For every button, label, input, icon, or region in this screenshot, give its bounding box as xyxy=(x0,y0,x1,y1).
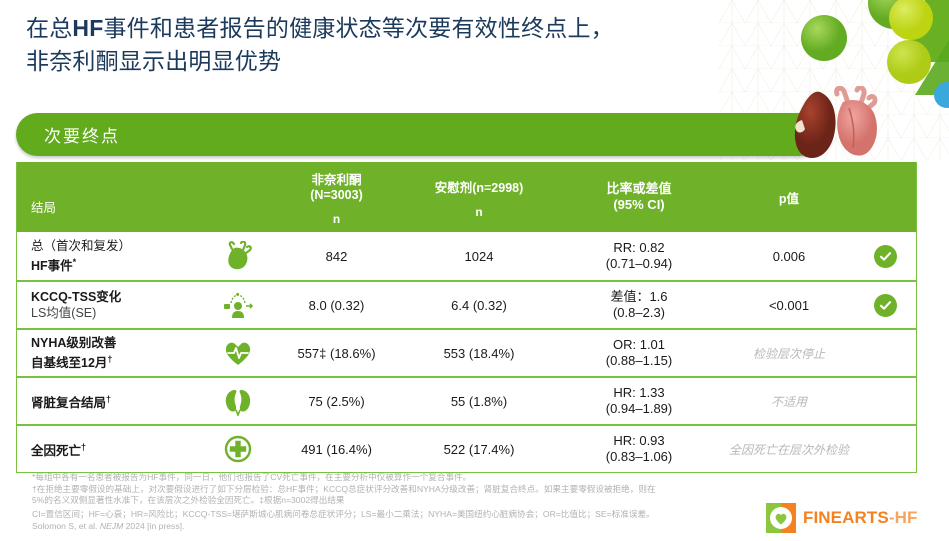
pvalue-cell: 0.006 xyxy=(724,232,854,280)
medical-cross-icon xyxy=(207,426,269,472)
ratio-value: HR: 0.93(0.83–1.06) xyxy=(554,426,724,472)
header-finerenone-name: 非奈利酮 xyxy=(269,173,404,188)
footnote-1: *每组中各有一名患者被报告为HF事件，同一日，他们也报告了CV死亡事件，在主要分… xyxy=(32,472,732,484)
header-finerenone-n: (N=3003) xyxy=(269,188,404,203)
status-check-badge xyxy=(874,245,897,268)
footnotes-block: *每组中各有一名患者被报告为HF事件，同一日，他们也报告了CV死亡事件，在主要分… xyxy=(32,472,732,507)
outcome-label-line1: KCCQ-TSS变化 xyxy=(31,289,207,305)
significance-cell xyxy=(854,426,916,472)
ratio-value: 差值：1.6(0.8–2.3) xyxy=(554,282,724,328)
ratio-estimate: 差值：1.6 xyxy=(554,289,724,305)
heart-anatomical-icon xyxy=(207,232,269,280)
ratio-ci: (0.83–1.06) xyxy=(554,449,724,465)
finerenone-value: 491 (16.4%) xyxy=(269,426,404,472)
header-icon-spacer xyxy=(207,162,269,232)
page-title: 在总HF事件和患者报告的健康状态等次要有效性终点上， 非奈利酮显示出明显优势 xyxy=(26,12,666,78)
citation-authors: Solomon S, et al. xyxy=(32,521,100,531)
outcome-label-line1: 全因死亡† xyxy=(31,439,207,459)
header-placebo: 安慰剂(n=2998) n xyxy=(404,162,554,232)
citation-line: Solomon S, et al. NEJM 2024 [in press]. xyxy=(32,521,752,533)
status-check-badge xyxy=(874,294,897,317)
table-body: 总（首次和复发）HF事件*8421024RR: 0.82(0.71–0.94)0… xyxy=(17,232,916,472)
outcome-label-line2: HF事件* xyxy=(31,254,207,274)
secondary-endpoints-table: 结局 非奈利酮 (N=3003) n 安慰剂(n=2998) n 比率或差值 (… xyxy=(16,162,917,473)
outcome-label-line1: NYHA级别改善 xyxy=(31,335,207,351)
header-placebo-name: 安慰剂(n=2998) xyxy=(404,181,554,196)
citation-year: 2024 [in press]. xyxy=(123,521,184,531)
title-line-1: 在总HF事件和患者报告的健康状态等次要有效性终点上， xyxy=(26,12,666,45)
pvalue-cell: 不适用 xyxy=(724,378,854,424)
footnote-2: †在拒绝主要零假设的基础上，对次要假设进行了如下分层检验：总HF事件；KCCQ总… xyxy=(32,484,732,496)
header-finerenone: 非奈利酮 (N=3003) n xyxy=(269,162,404,232)
ratio-ci: (0.8–2.3) xyxy=(554,305,724,321)
kidneys-icon xyxy=(207,378,269,424)
significance-cell xyxy=(854,282,916,328)
pvalue-cell: 全因死亡在层次外检验 xyxy=(724,426,854,472)
title-seg-bold: HF xyxy=(72,15,103,41)
outcome-label-line2: 自基线至12月† xyxy=(31,351,207,371)
placebo-value: 55 (1.8%) xyxy=(404,378,554,424)
finearts-hf-logo: FINEARTS-HF xyxy=(766,503,917,533)
section-banner: 次要终点 xyxy=(16,113,821,156)
title-line-2: 非奈利酮显示出明显优势 xyxy=(26,45,666,78)
table-row: NYHA级别改善自基线至12月†557‡ (18.6%)553 (18.4%)O… xyxy=(17,328,916,376)
logo-name-secondary: -HF xyxy=(889,508,918,527)
patient-status-icon xyxy=(207,282,269,328)
ratio-estimate: RR: 0.82 xyxy=(554,240,724,256)
significance-cell xyxy=(854,232,916,280)
ratio-ci: (0.71–0.94) xyxy=(554,256,724,272)
pvalue-cell: 检验层次停止 xyxy=(724,330,854,376)
pvalue-cell: <0.001 xyxy=(724,282,854,328)
outcome-label-line1: 总（首次和复发） xyxy=(31,238,207,254)
table-row: KCCQ-TSS变化LS均值(SE)8.0 (0.32)6.4 (0.32)差值… xyxy=(17,280,916,328)
ratio-value: OR: 1.01(0.88–1.15) xyxy=(554,330,724,376)
header-ratio-line1: 比率或差值 xyxy=(554,181,724,197)
table-row: 全因死亡†491 (16.4%)522 (17.4%)HR: 0.93(0.83… xyxy=(17,424,916,472)
placebo-value: 553 (18.4%) xyxy=(404,330,554,376)
finerenone-value: 557‡ (18.6%) xyxy=(269,330,404,376)
section-banner-label: 次要终点 xyxy=(44,122,120,147)
finerenone-value: 842 xyxy=(269,232,404,280)
header-finerenone-sub: n xyxy=(269,212,404,227)
logo-mark-icon xyxy=(766,503,796,533)
outcome-label-line1: 肾脏复合结局† xyxy=(31,391,207,411)
logo-text: FINEARTS-HF xyxy=(803,508,917,528)
header-check-spacer xyxy=(854,162,916,232)
placebo-value: 522 (17.4%) xyxy=(404,426,554,472)
heart-anatomical-image xyxy=(823,86,885,164)
ratio-ci: (0.88–1.15) xyxy=(554,353,724,369)
title-seg-post: 事件和患者报告的健康状态等次要有效性终点上， xyxy=(103,15,613,41)
abbreviations-block: CI=置信区间；HF=心衰；HR=风险比；KCCQ-TSS=堪萨斯城心肌病问卷总… xyxy=(32,509,752,532)
outcome-cell: KCCQ-TSS变化LS均值(SE) xyxy=(17,282,207,328)
table-header-row: 结局 非奈利酮 (N=3003) n 安慰剂(n=2998) n 比率或差值 (… xyxy=(17,162,916,232)
table-row: 肾脏复合结局†75 (2.5%)55 (1.8%)HR: 1.33(0.94–1… xyxy=(17,376,916,424)
outcome-cell: NYHA级别改善自基线至12月† xyxy=(17,330,207,376)
ratio-estimate: HR: 0.93 xyxy=(554,433,724,449)
header-placebo-sub: n xyxy=(404,205,554,220)
header-outcome: 结局 xyxy=(17,162,207,232)
outcome-cell: 全因死亡† xyxy=(17,426,207,472)
outcome-cell: 总（首次和复发）HF事件* xyxy=(17,232,207,280)
placebo-value: 6.4 (0.32) xyxy=(404,282,554,328)
header-ratio-line2: (95% CI) xyxy=(554,197,724,213)
significance-cell xyxy=(854,330,916,376)
abbreviations-line: CI=置信区间；HF=心衰；HR=风险比；KCCQ-TSS=堪萨斯城心肌病问卷总… xyxy=(32,509,752,521)
header-pvalue: p值 xyxy=(724,162,854,232)
citation-journal: NEJM xyxy=(100,521,123,531)
header-ratio: 比率或差值 (95% CI) xyxy=(554,162,724,232)
finerenone-value: 8.0 (0.32) xyxy=(269,282,404,328)
ratio-estimate: OR: 1.01 xyxy=(554,337,724,353)
placebo-value: 1024 xyxy=(404,232,554,280)
footnote-3: 5%的名义双侧显著性水准下，在该层次之外检验全因死亡。‡根据n=3002得出结果 xyxy=(32,495,732,507)
ratio-estimate: HR: 1.33 xyxy=(554,385,724,401)
table-row: 总（首次和复发）HF事件*8421024RR: 0.82(0.71–0.94)0… xyxy=(17,232,916,280)
ratio-value: RR: 0.82(0.71–0.94) xyxy=(554,232,724,280)
finerenone-value: 75 (2.5%) xyxy=(269,378,404,424)
title-seg-pre: 在总 xyxy=(26,15,72,41)
logo-name-primary: FINEARTS xyxy=(803,508,889,527)
ratio-value: HR: 1.33(0.94–1.89) xyxy=(554,378,724,424)
outcome-cell: 肾脏复合结局† xyxy=(17,378,207,424)
significance-cell xyxy=(854,378,916,424)
heart-pulse-icon xyxy=(207,330,269,376)
ratio-ci: (0.94–1.89) xyxy=(554,401,724,417)
outcome-label-line2: LS均值(SE) xyxy=(31,305,207,321)
